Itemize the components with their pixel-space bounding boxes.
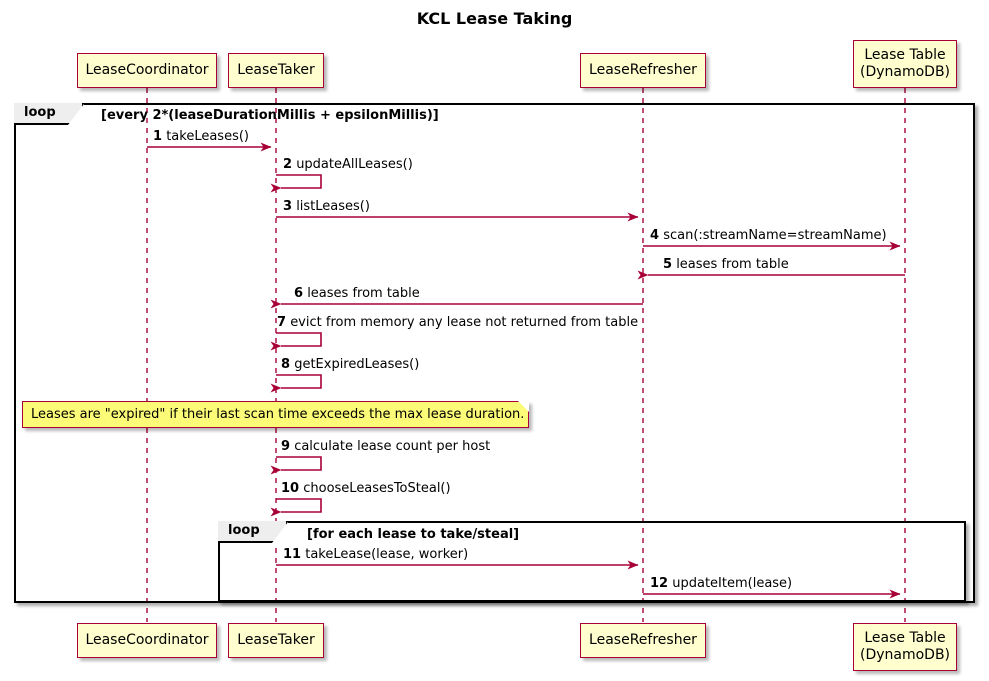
message-text: updateItem(lease) [672, 576, 792, 591]
message-label-8: 8 getExpiredLeases() [281, 357, 419, 372]
participant-label-line1: Lease Table [864, 47, 945, 64]
message-label-6: 6 leases from table [294, 286, 420, 301]
message-seq: 10 [281, 481, 299, 496]
message-label-3: 3 listLeases() [283, 199, 370, 214]
participant-label-line1: Lease Table [864, 630, 945, 647]
message-seq: 5 [663, 257, 672, 272]
message-seq: 8 [281, 357, 290, 372]
frame-outer-loop-operator: loop [14, 103, 84, 125]
participant-head-leaserefresher[interactable]: LeaseRefresher [580, 53, 706, 88]
message-seq: 7 [277, 315, 286, 330]
message-text: takeLeases() [166, 129, 249, 144]
message-text: updateAllLeases() [296, 157, 413, 172]
message-seq: 4 [650, 228, 659, 243]
message-seq: 12 [650, 576, 668, 591]
frame-inner-loop-guard: [for each lease to take/steal] [307, 527, 519, 543]
participant-label-line2: (DynamoDB) [860, 647, 950, 664]
sequence-diagram-canvas: KCL Lease Taking LeaseCoordinator LeaseT… [0, 0, 989, 681]
message-text: calculate lease count per host [294, 439, 490, 454]
participant-head-leasecoordinator[interactable]: LeaseCoordinator [77, 53, 217, 88]
message-text: chooseLeasesToSteal() [303, 481, 450, 496]
message-label-12: 12 updateItem(lease) [650, 576, 792, 591]
message-seq: 2 [283, 157, 292, 172]
message-text: leases from table [676, 257, 789, 272]
note-expired-leases: Leases are "expired" if their last scan … [22, 401, 529, 428]
participant-label: LeaseCoordinator [85, 632, 208, 649]
note-fold-corner [518, 401, 529, 412]
message-text: scan(:streamName=streamName) [663, 228, 886, 243]
message-text: leases from table [307, 286, 420, 301]
frame-outer-loop-guard: [every 2*(leaseDurationMillis + epsilonM… [101, 108, 439, 124]
message-text: takeLease(lease, worker) [305, 547, 468, 562]
message-seq: 1 [153, 129, 162, 144]
message-label-5: 5 leases from table [663, 257, 789, 272]
participant-head-leasetaker[interactable]: LeaseTaker [228, 53, 324, 88]
message-label-11: 11 takeLease(lease, worker) [283, 547, 468, 562]
note-text: Leases are "expired" if their last scan … [31, 407, 524, 422]
message-label-1: 1 takeLeases() [153, 129, 249, 144]
participant-label: LeaseTaker [237, 62, 314, 79]
message-label-7: 7 evict from memory any lease not return… [277, 315, 638, 330]
participant-foot-leaserefresher[interactable]: LeaseRefresher [580, 623, 706, 658]
participant-label-line2: (DynamoDB) [860, 64, 950, 81]
message-label-4: 4 scan(:streamName=streamName) [650, 228, 887, 243]
message-seq: 11 [283, 547, 301, 562]
participant-head-leasetable[interactable]: Lease Table (DynamoDB) [853, 40, 957, 88]
participant-foot-leasetable[interactable]: Lease Table (DynamoDB) [853, 623, 957, 671]
participant-label: LeaseTaker [237, 632, 314, 649]
message-label-9: 9 calculate lease count per host [281, 439, 490, 454]
message-text: listLeases() [296, 199, 370, 214]
message-label-10: 10 chooseLeasesToSteal() [281, 481, 451, 496]
message-label-2: 2 updateAllLeases() [283, 157, 413, 172]
participant-label: LeaseRefresher [589, 632, 697, 649]
participant-foot-leasetaker[interactable]: LeaseTaker [228, 623, 324, 658]
participant-label: LeaseCoordinator [85, 62, 208, 79]
message-seq: 9 [281, 439, 290, 454]
message-seq: 3 [283, 199, 292, 214]
message-text: evict from memory any lease not returned… [290, 315, 638, 330]
message-seq: 6 [294, 286, 303, 301]
participant-label: LeaseRefresher [589, 62, 697, 79]
participant-foot-leasecoordinator[interactable]: LeaseCoordinator [77, 623, 217, 658]
message-text: getExpiredLeases() [294, 357, 419, 372]
frame-inner-loop-operator: loop [218, 521, 288, 543]
diagram-title: KCL Lease Taking [0, 9, 989, 28]
